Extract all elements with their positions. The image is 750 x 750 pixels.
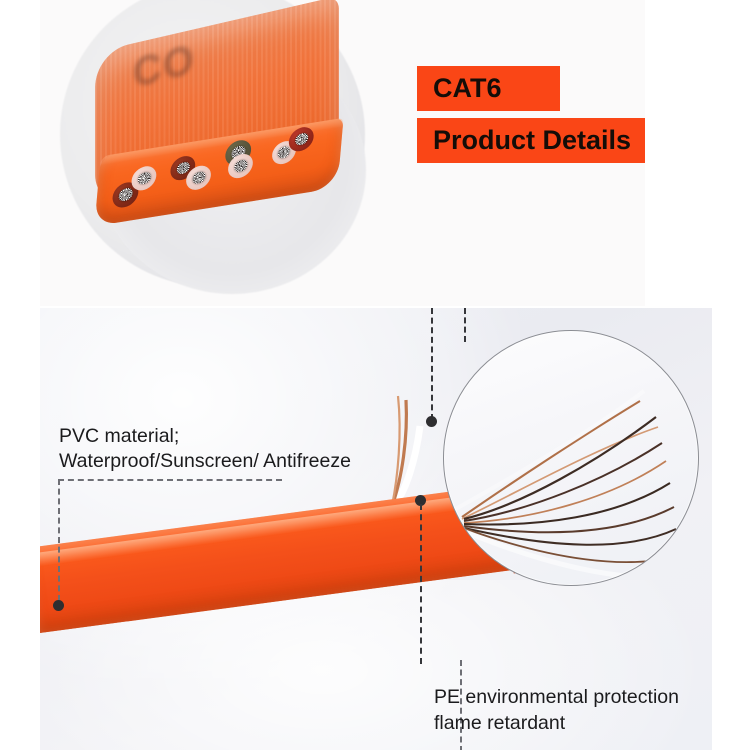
pe-callout-line-1: PE environmental protection — [434, 684, 704, 710]
pvc-callout-line-2: Waterproof/Sunscreen/ Antifreeze — [59, 449, 351, 474]
callout-dot-pvc — [53, 600, 64, 611]
banner-product-details: Product Details — [417, 118, 645, 163]
pvc-callout-label: PVC material; Waterproof/Sunscreen/ Anti… — [59, 424, 351, 474]
callout-line-magnifier — [464, 308, 466, 342]
pe-callout-label: PE environmental protection flame retard… — [434, 684, 704, 736]
banner-cat6-label: CAT6 — [433, 73, 502, 104]
pvc-callout-line-horizontal — [58, 479, 282, 481]
callout-line-lower — [420, 504, 422, 664]
magnified-copper-strands — [444, 331, 698, 585]
callout-dot-upper — [426, 416, 437, 427]
callout-line-upper — [431, 308, 433, 420]
conductor-2 — [131, 163, 157, 194]
banner-cat6: CAT6 — [417, 66, 560, 111]
product-detail-page: CO CAT6 Product Details — [0, 0, 750, 750]
pvc-callout-line-1: PVC material; — [59, 424, 351, 449]
pvc-callout-line-vertical — [58, 479, 60, 601]
top-panel: CO CAT6 Product Details — [40, 0, 645, 306]
conductor-8 — [288, 124, 314, 155]
cat6-cable-photo: CO — [80, 10, 370, 240]
magnifier-circle — [443, 330, 699, 586]
banner-product-details-label: Product Details — [433, 125, 631, 156]
pe-callout-line-2: flame retardant — [434, 710, 704, 736]
